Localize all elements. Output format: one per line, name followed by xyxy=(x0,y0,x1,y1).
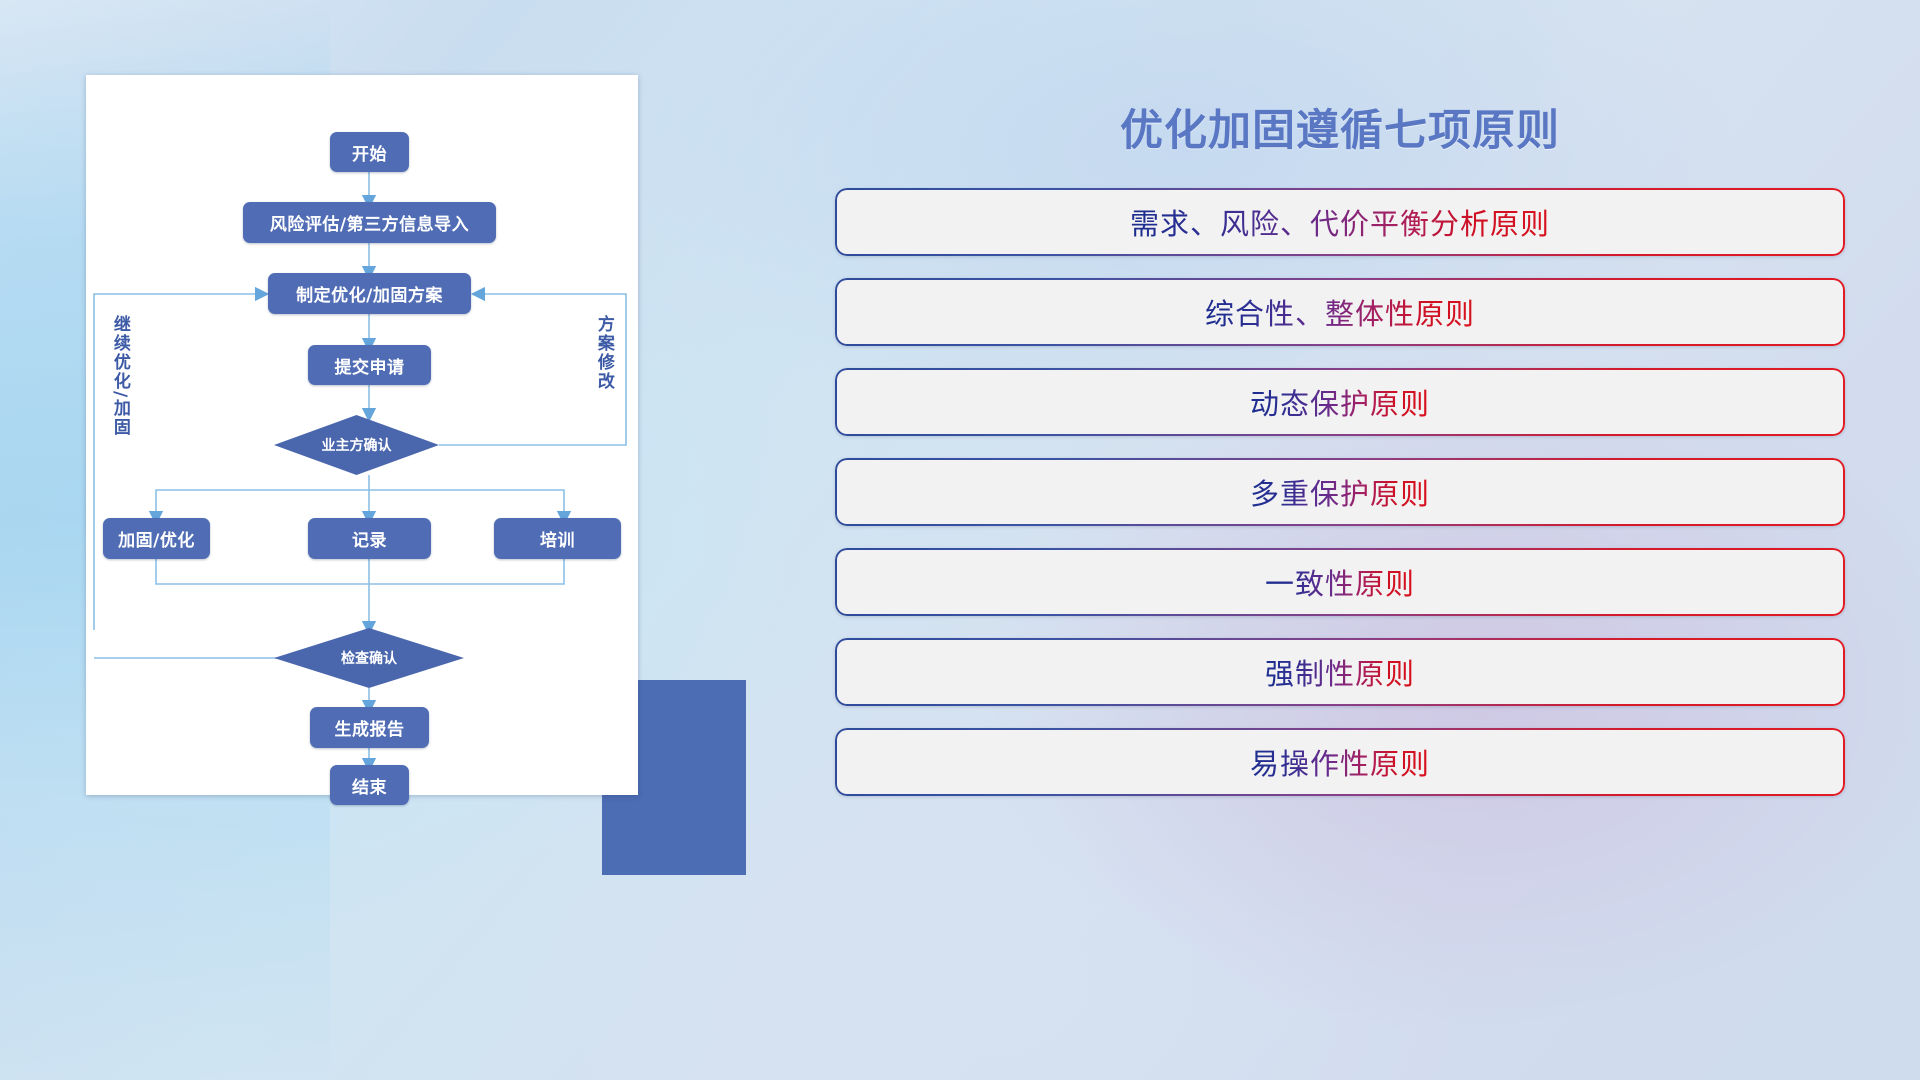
flow-node-generate-report[interactable]: 生成报告 xyxy=(310,707,429,748)
principle-label: 需求、风险、代价平衡分析原则 xyxy=(1130,201,1550,243)
flowchart-panel: 开始 风险评估/第三方信息导入 制定优化/加固方案 提交申请 业主方确认 加固/… xyxy=(86,75,706,815)
principle-label: 多重保护原则 xyxy=(1250,471,1430,513)
flow-node-label: 培训 xyxy=(540,526,575,551)
flow-node-label: 提交申请 xyxy=(335,353,405,378)
flow-node-end[interactable]: 结束 xyxy=(330,765,409,805)
flow-node-label: 制定优化/加固方案 xyxy=(296,281,443,306)
panel-title: 优化加固遵循七项原则 xyxy=(835,96,1845,158)
flow-node-label: 风险评估/第三方信息导入 xyxy=(270,210,469,235)
flow-node-reinforce-optimize[interactable]: 加固/优化 xyxy=(103,518,210,559)
flow-node-label: 生成报告 xyxy=(335,715,405,740)
flow-node-training[interactable]: 培训 xyxy=(494,518,621,559)
flow-node-label: 加固/优化 xyxy=(118,526,195,551)
principle-label: 强制性原则 xyxy=(1265,651,1415,693)
flow-node-label: 结束 xyxy=(352,773,387,798)
flow-edge-label-continue-optimize: 继续优化/加固 xyxy=(110,315,128,437)
principle-item[interactable]: 动态保护原则 xyxy=(835,368,1845,436)
flow-node-label: 记录 xyxy=(352,526,387,551)
principle-label: 一致性原则 xyxy=(1265,561,1415,603)
principle-item[interactable]: 综合性、整体性原则 xyxy=(835,278,1845,346)
flow-node-plan[interactable]: 制定优化/加固方案 xyxy=(268,273,471,314)
flow-node-start[interactable]: 开始 xyxy=(330,132,409,172)
flow-edge-label-plan-revision: 方案修改 xyxy=(594,315,612,391)
principle-item[interactable]: 需求、风险、代价平衡分析原则 xyxy=(835,188,1845,256)
principle-item[interactable]: 易操作性原则 xyxy=(835,728,1845,796)
principle-item[interactable]: 强制性原则 xyxy=(835,638,1845,706)
flow-node-record[interactable]: 记录 xyxy=(308,518,431,559)
principle-label: 易操作性原则 xyxy=(1250,741,1430,783)
flow-node-submit-application[interactable]: 提交申请 xyxy=(308,345,431,385)
slide-root: 开始 风险评估/第三方信息导入 制定优化/加固方案 提交申请 业主方确认 加固/… xyxy=(0,0,1920,1080)
principles-panel: 优化加固遵循七项原则 需求、风险、代价平衡分析原则 综合性、整体性原则 动态保护… xyxy=(835,70,1845,1030)
flow-node-label: 业主方确认 xyxy=(322,435,392,455)
principle-item[interactable]: 一致性原则 xyxy=(835,548,1845,616)
flow-node-label: 开始 xyxy=(352,140,387,165)
flow-node-label: 检查确认 xyxy=(341,648,397,668)
flowchart-card: 开始 风险评估/第三方信息导入 制定优化/加固方案 提交申请 业主方确认 加固/… xyxy=(86,75,638,795)
principle-label: 综合性、整体性原则 xyxy=(1205,291,1475,333)
flow-node-risk-assessment[interactable]: 风险评估/第三方信息导入 xyxy=(243,202,496,243)
principle-item[interactable]: 多重保护原则 xyxy=(835,458,1845,526)
principles-list: 需求、风险、代价平衡分析原则 综合性、整体性原则 动态保护原则 多重保护原则 一… xyxy=(835,188,1845,818)
principle-label: 动态保护原则 xyxy=(1250,381,1430,423)
